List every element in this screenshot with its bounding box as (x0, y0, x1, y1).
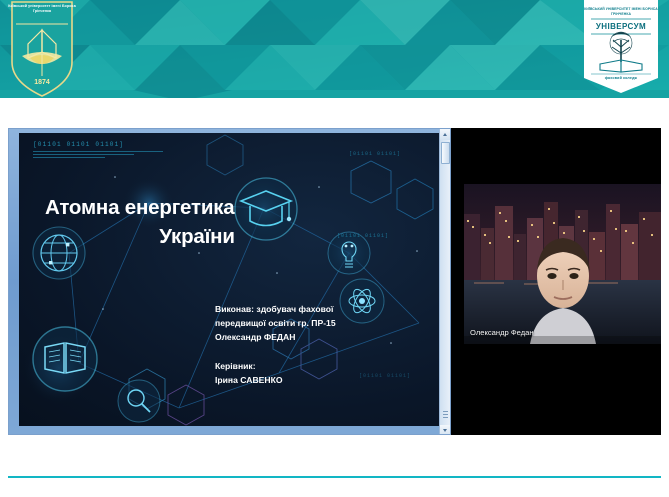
book-icon (33, 327, 97, 391)
slide-author-block: Виконав: здобувач фахової передвищої осв… (215, 303, 421, 345)
university-crest-logo: 1874 Київський університет імені Бориса … (4, 0, 80, 98)
bottom-divider (8, 476, 661, 478)
universum-badge-logo: КИЇВСЬКИЙ УНІВЕРСИТЕТ ІМЕНІ БОРИСА ГРІНЧ… (578, 0, 664, 95)
slide-supervisor-block: Керівник: Ірина САВЕНКО (215, 360, 421, 388)
binary-decor-right-top: [01101 01101] (349, 151, 401, 157)
scrollbar-up-arrow[interactable] (440, 129, 451, 140)
crest-shield-icon: 1874 (4, 0, 80, 98)
participant-video-tile[interactable]: Олександр Федан (464, 184, 661, 344)
scrollbar-down-arrow[interactable] (440, 425, 451, 435)
binary-decor-lines (33, 151, 163, 160)
content-stage: [01101 01101 01101] [01101 01101] [01101… (8, 128, 661, 435)
header-geometric-pattern (0, 0, 669, 98)
participant-name-label: Олександр Федан (470, 328, 534, 337)
binary-decor-right-mid: [01101 01101] (337, 233, 389, 239)
binary-decor-top: [01101 01101 01101] (33, 141, 124, 148)
slide-title-line2: України (45, 222, 313, 251)
scrollbar-grip-1 (443, 411, 448, 412)
presentation-slide: [01101 01101 01101] [01101 01101] [01101… (19, 133, 440, 426)
badge-university-name: КИЇВСЬКИЙ УНІВЕРСИТЕТ ІМЕНІ БОРИСА ГРІНЧ… (584, 7, 658, 17)
presentation-screenshot: 1874 Київський університет імені Бориса … (0, 0, 669, 497)
participant-webcam-image (464, 184, 661, 344)
scrollbar-grip-2 (443, 414, 448, 415)
crest-year: 1874 (34, 79, 50, 86)
badge-college-text: фаховий коледж (584, 76, 658, 80)
slide-title: Атомна енергетика України (45, 193, 313, 251)
header-banner: 1874 Київський університет імені Бориса … (0, 0, 669, 98)
slide-scrollbar[interactable] (439, 129, 450, 435)
video-conference-panel: Олександр Федан (451, 128, 661, 435)
slide-viewer-panel[interactable]: [01101 01101 01101] [01101 01101] [01101… (8, 128, 451, 435)
badge-universum-text: УНІВЕРСУМ (584, 22, 658, 31)
crest-university-name: Київський університет імені Бориса Грінч… (7, 4, 77, 14)
scrollbar-thumb[interactable] (441, 142, 450, 164)
scrollbar-grip-3 (443, 417, 448, 418)
slide-title-line1: Атомна енергетика (45, 196, 234, 219)
magnifier-icon (118, 380, 160, 422)
